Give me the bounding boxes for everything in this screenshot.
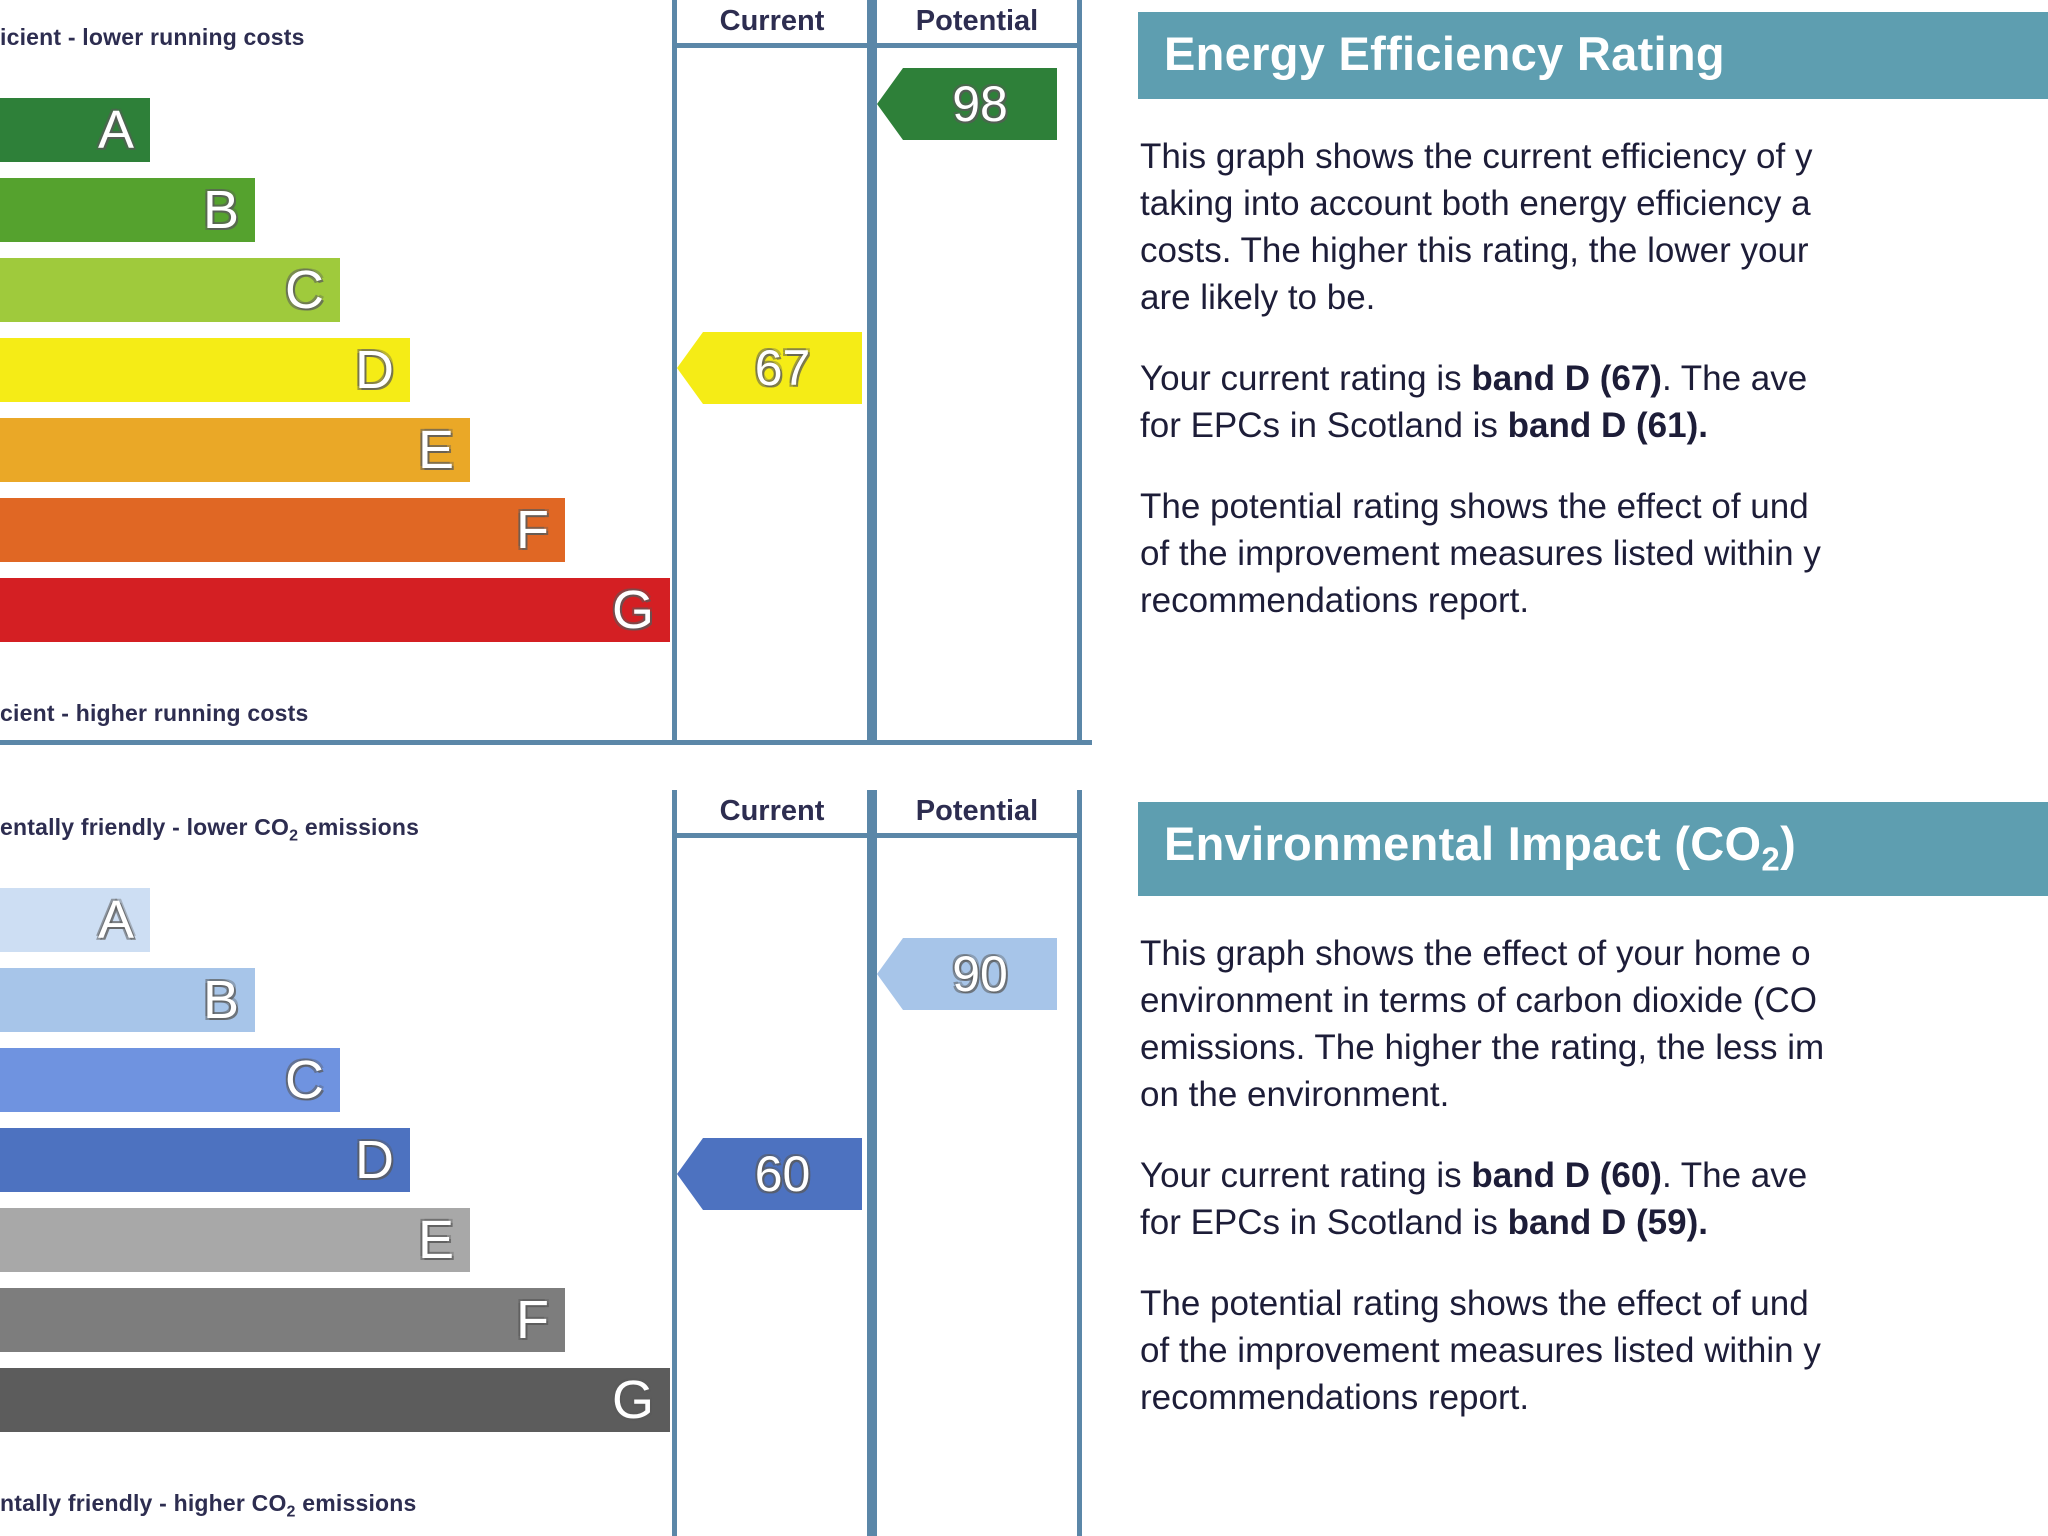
environmental-impact-text-panel: Environmental Impact (CO2) This graph sh… [1138, 802, 2048, 1421]
sei-band-f-letter: F [516, 503, 565, 557]
sei-potential-header: Potential [877, 0, 1077, 48]
co2-band-b-letter: B [203, 973, 255, 1027]
sei-bottom-rule [0, 740, 1092, 745]
co2-columns: Current Potential 90 60 [672, 790, 1087, 1536]
co2-bottom-caption-b: emissions [296, 1490, 417, 1516]
co2-top-caption: entally friendly - lower CO2 emissions [0, 814, 419, 846]
co2-band-e-letter: E [418, 1213, 470, 1267]
sei-band-a: A [0, 98, 150, 162]
sei-current-arrow: 67 [677, 332, 862, 404]
sei-top-caption: icient - lower running costs [0, 24, 305, 51]
co2-p2-a: Your current rating is [1140, 1156, 1471, 1195]
sei-band-d: D [0, 338, 410, 402]
co2-p2-band-current: band D (60) [1471, 1156, 1662, 1195]
energy-efficiency-rating-section: icient - lower running costs A B C D E [0, 0, 1095, 745]
co2-band-a: A [0, 888, 150, 952]
energy-efficiency-panel-title: Energy Efficiency Rating [1138, 12, 2048, 99]
energy-efficiency-text-panel: Energy Efficiency Rating This graph show… [1138, 12, 2048, 624]
co2-band-d: D [0, 1128, 410, 1192]
sei-p2-a: Your current rating is [1140, 359, 1471, 398]
co2-paragraph-2: Your current rating is band D (60). The … [1140, 1152, 2048, 1246]
co2-title-a: Environmental Impact (CO [1164, 817, 1761, 870]
co2-bottom-caption-a: ntally friendly - higher CO [0, 1490, 287, 1516]
co2-bottom-caption-subscript: 2 [287, 1504, 296, 1521]
environmental-impact-chart: entally friendly - lower CO2 emissions A… [0, 790, 680, 1536]
sei-paragraph-2: Your current rating is band D (67). The … [1140, 355, 2048, 449]
co2-paragraph-1: This graph shows the effect of your home… [1140, 930, 2048, 1118]
co2-current-arrow: 60 [677, 1138, 862, 1210]
co2-band-e: E [0, 1208, 470, 1272]
co2-potential-column: Potential [872, 790, 1082, 1536]
co2-band-d-letter: D [355, 1133, 410, 1187]
co2-current-header: Current [677, 790, 867, 838]
co2-top-caption-b: emissions [298, 814, 419, 840]
co2-band-g-letter: G [612, 1373, 670, 1427]
sei-paragraph-1: This graph shows the current efficiency … [1140, 133, 2048, 321]
environmental-impact-panel-body: This graph shows the effect of your home… [1138, 930, 2048, 1421]
sei-band-c: C [0, 258, 340, 322]
energy-efficiency-panel-body: This graph shows the current efficiency … [1138, 133, 2048, 624]
sei-band-b-letter: B [203, 183, 255, 237]
epc-graph-page: icient - lower running costs A B C D E [0, 0, 2048, 1536]
sei-columns: Current Potential 98 67 [672, 0, 1087, 745]
sei-paragraph-3: The potential rating shows the effect of… [1140, 483, 2048, 624]
co2-band-c: C [0, 1048, 340, 1112]
sei-band-g: G [0, 578, 670, 642]
sei-band-f: F [0, 498, 565, 562]
sei-bottom-caption: cient - higher running costs [0, 700, 308, 727]
sei-p2-band-current: band D (67) [1471, 359, 1662, 398]
co2-band-c-letter: C [285, 1053, 340, 1107]
environmental-impact-panel-title: Environmental Impact (CO2) [1138, 802, 2048, 896]
sei-band-e: E [0, 418, 470, 482]
sei-current-header: Current [677, 0, 867, 48]
co2-band-a-letter: A [98, 893, 150, 947]
co2-title-b: ) [1780, 817, 1796, 870]
co2-paragraph-3: The potential rating shows the effect of… [1140, 1280, 2048, 1421]
co2-title-subscript: 2 [1761, 840, 1780, 877]
co2-top-caption-a: entally friendly - lower CO [0, 814, 289, 840]
sei-potential-arrow: 98 [877, 68, 1057, 140]
co2-potential-header: Potential [877, 790, 1077, 838]
sei-band-b: B [0, 178, 255, 242]
sei-p2-band-average: band D (61). [1508, 406, 1708, 445]
co2-band-g: G [0, 1368, 670, 1432]
sei-band-d-letter: D [355, 343, 410, 397]
co2-band-f-letter: F [516, 1293, 565, 1347]
co2-p2-band-average: band D (59). [1508, 1203, 1708, 1242]
energy-efficiency-chart: icient - lower running costs A B C D E [0, 0, 680, 745]
co2-top-caption-subscript: 2 [289, 828, 298, 845]
sei-band-e-letter: E [418, 423, 470, 477]
co2-bottom-caption: ntally friendly - higher CO2 emissions [0, 1490, 417, 1522]
sei-band-c-letter: C [285, 263, 340, 317]
sei-band-g-letter: G [612, 583, 670, 637]
sei-band-a-letter: A [98, 103, 150, 157]
environmental-impact-section: entally friendly - lower CO2 emissions A… [0, 790, 1095, 1536]
co2-potential-arrow: 90 [877, 938, 1057, 1010]
co2-band-f: F [0, 1288, 565, 1352]
co2-band-b: B [0, 968, 255, 1032]
